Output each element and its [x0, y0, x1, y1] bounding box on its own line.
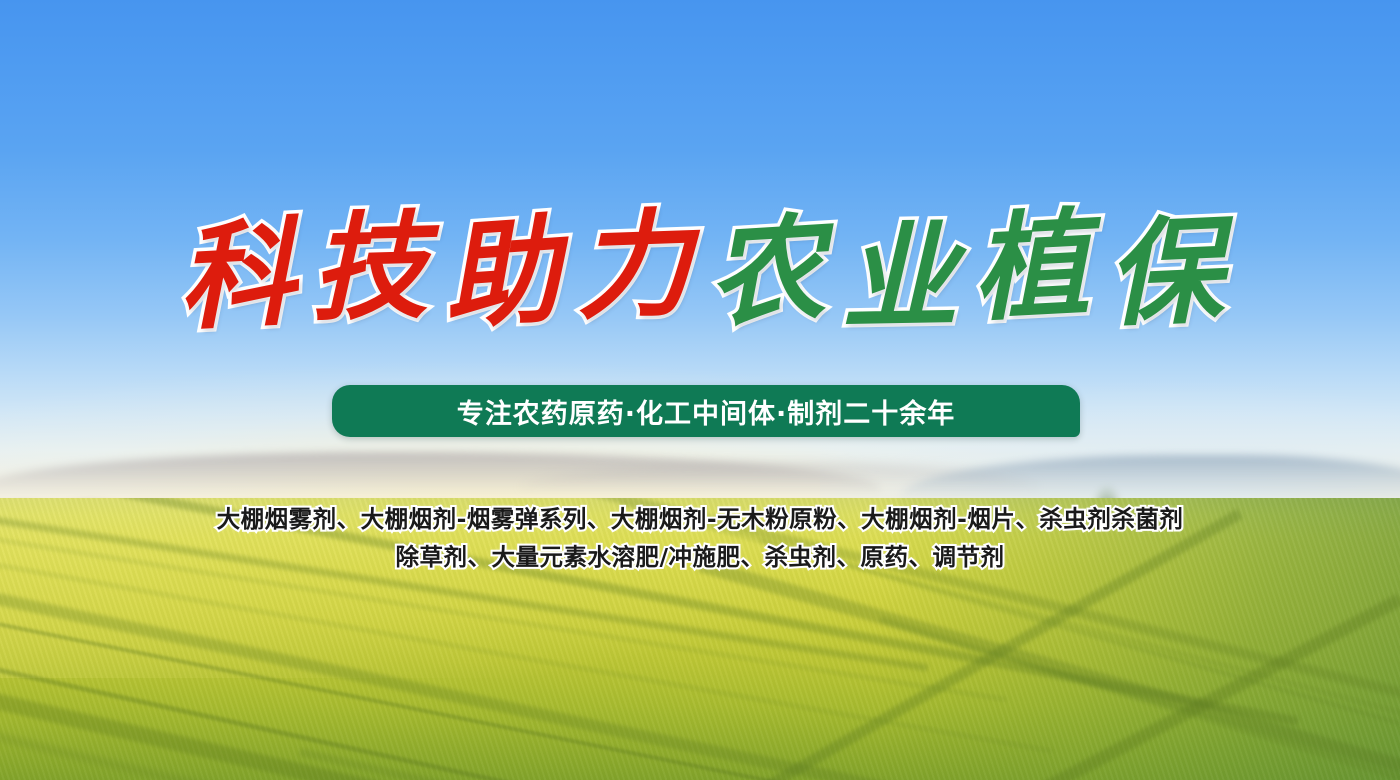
headline-char-5: 农 [699, 210, 834, 334]
product-line-1: 大棚烟雾剂、大棚烟剂-烟雾弹系列、大棚烟剂-无木粉原粉、大棚烟剂-烟片、杀虫剂杀… [0, 500, 1400, 538]
subtitle-pill-text: 专注农药原药·化工中间体·制剂二十余年 [457, 392, 956, 431]
product-list: 大棚烟雾剂、大棚烟剂-烟雾弹系列、大棚烟剂-无木粉原粉、大棚烟剂-烟片、杀虫剂杀… [0, 500, 1400, 576]
headline-char-4: 力 [568, 206, 700, 326]
headline-char-8: 保 [1097, 212, 1230, 333]
product-line-2: 除草剂、大量元素水溶肥/冲施肥、杀虫剂、原药、调节剂 [0, 538, 1400, 576]
headline-char-1: 科 [170, 215, 304, 338]
headline-char-6: 业 [834, 219, 964, 337]
headline-char-2: 技 [303, 208, 434, 327]
subtitle-pill: 专注农药原药·化工中间体·制剂二十余年 [332, 385, 1080, 437]
hero-banner: 科 技 助 力 农 业 植 保 专注农药原药·化工中间体·制剂二十余年 大棚烟雾… [0, 0, 1400, 780]
headline-char-7: 植 [964, 206, 1098, 329]
headline-char-3: 助 [434, 212, 570, 337]
headline: 科 技 助 力 农 业 植 保 [0, 212, 1400, 328]
